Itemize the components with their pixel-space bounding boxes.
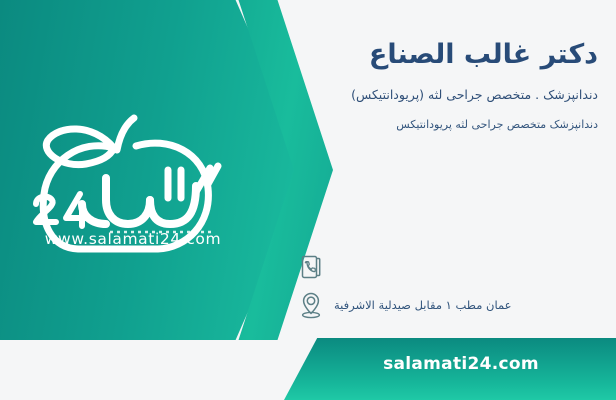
- doctor-specialty-primary: دندانپزشک . متخصص جراحی لثه (پریودانتیکس…: [286, 86, 598, 105]
- footer-website: salamati24.com: [284, 354, 616, 374]
- map-pin-icon[interactable]: [298, 290, 324, 320]
- footer-banner[interactable]: salamati24.com: [284, 338, 616, 400]
- contact-address-label: عمان مطب ١ مقابل صيدلية الاشرفية: [334, 297, 511, 313]
- doctor-name: دکتر غالب الصناع: [286, 0, 598, 72]
- contact-list: عمان مطب ١ مقابل صيدلية الاشرفية: [298, 248, 598, 324]
- brand-logo: www.salamati24.com: [18, 108, 248, 268]
- contact-row-address[interactable]: عمان مطب ١ مقابل صيدلية الاشرفية: [298, 286, 598, 324]
- doctor-specialty-secondary: دندانپزشک متخصص جراحی لثه پریودانتیکس: [286, 117, 598, 134]
- logo-website-url: www.salamati24.com: [28, 230, 238, 248]
- phone-book-icon[interactable]: [298, 252, 324, 282]
- badge-24: [36, 194, 88, 226]
- contact-row-phone[interactable]: [298, 248, 598, 286]
- doctor-profile-card: www.salamati24.com دکتر غالب الصناع دندا…: [0, 0, 616, 400]
